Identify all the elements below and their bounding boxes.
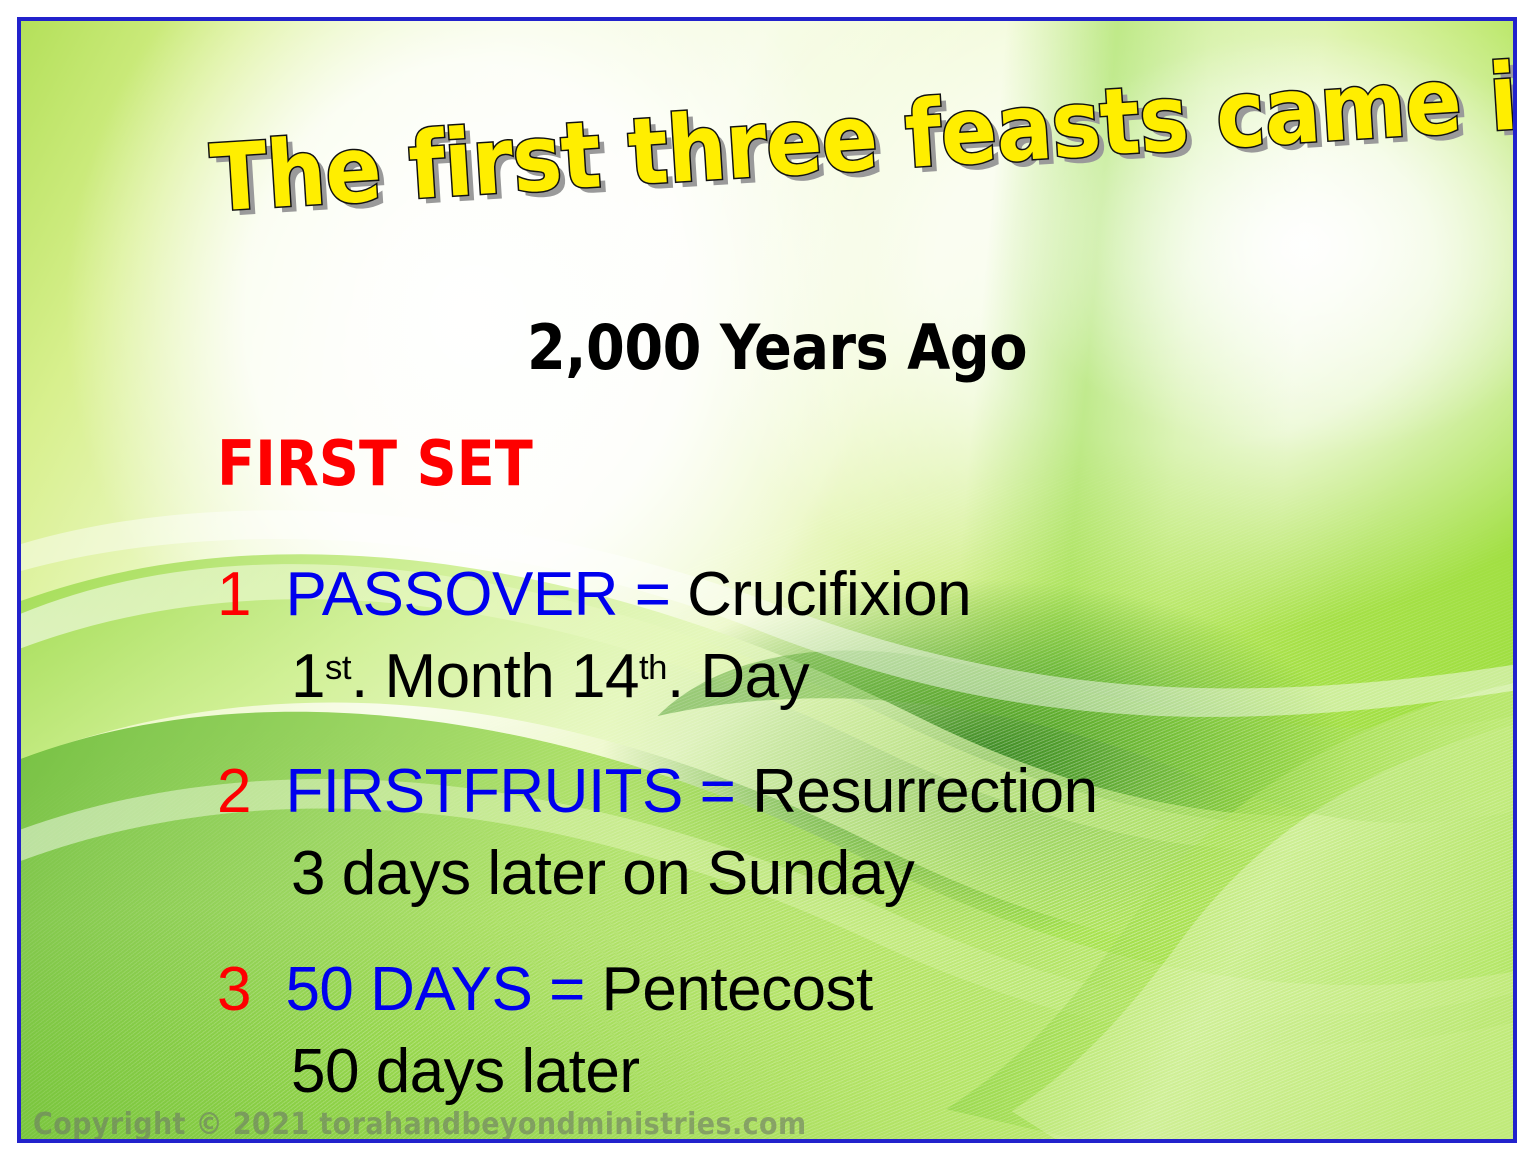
- feast-item-1: 1 PASSOVER = Crucifixion 1st. Month 14th…: [217, 559, 971, 712]
- subtitle-years-ago: 2,000 Years Ago: [527, 317, 1027, 379]
- section-label-first-set: FIRST SET: [217, 433, 533, 495]
- feast-item-1-detail-prefix: 1: [291, 642, 325, 711]
- feast-item-1-name: PASSOVER: [285, 560, 618, 629]
- feast-item-1-equals: =: [635, 560, 671, 629]
- feast-item-2: 2 FIRSTFRUITS = Resurrection 3 days late…: [217, 756, 1098, 909]
- feast-item-2-equals: =: [700, 757, 736, 826]
- feast-item-1-detail-sup2: th: [639, 649, 667, 687]
- slide-frame: The first three feasts came in rapid suc…: [17, 17, 1517, 1143]
- feast-item-1-detail-mid: . Month 14: [351, 642, 639, 711]
- feast-item-3-name: 50 DAYS: [285, 955, 532, 1024]
- feast-item-2-detail: 3 days later on Sunday: [217, 838, 1098, 909]
- feast-item-2-name: FIRSTFRUITS: [285, 757, 682, 826]
- slide-canvas: The first three feasts came in rapid suc…: [0, 0, 1533, 1158]
- feast-item-3: 3 50 DAYS = Pentecost 50 days later: [217, 954, 873, 1107]
- feast-item-2-number: 2: [217, 757, 251, 826]
- feast-item-1-detail-sup1: st: [325, 649, 351, 687]
- copyright-notice: Copyright © 2021 torahandbeyondministrie…: [33, 1107, 806, 1142]
- feast-item-3-number: 3: [217, 955, 251, 1024]
- feast-item-2-headline: 2 FIRSTFRUITS = Resurrection: [217, 756, 1098, 827]
- feast-item-1-number: 1: [217, 560, 251, 629]
- feast-item-1-detail: 1st. Month 14th. Day: [217, 641, 971, 712]
- feast-item-3-fulfillment: Pentecost: [602, 955, 873, 1024]
- feast-item-3-detail: 50 days later: [217, 1036, 873, 1107]
- feast-item-3-equals: =: [549, 955, 585, 1024]
- feast-item-1-headline: 1 PASSOVER = Crucifixion: [217, 559, 971, 630]
- feast-item-2-fulfillment: Resurrection: [752, 757, 1097, 826]
- feast-item-3-headline: 3 50 DAYS = Pentecost: [217, 954, 873, 1025]
- feast-item-1-fulfillment: Crucifixion: [687, 560, 971, 629]
- feast-item-1-detail-suffix: . Day: [667, 642, 809, 711]
